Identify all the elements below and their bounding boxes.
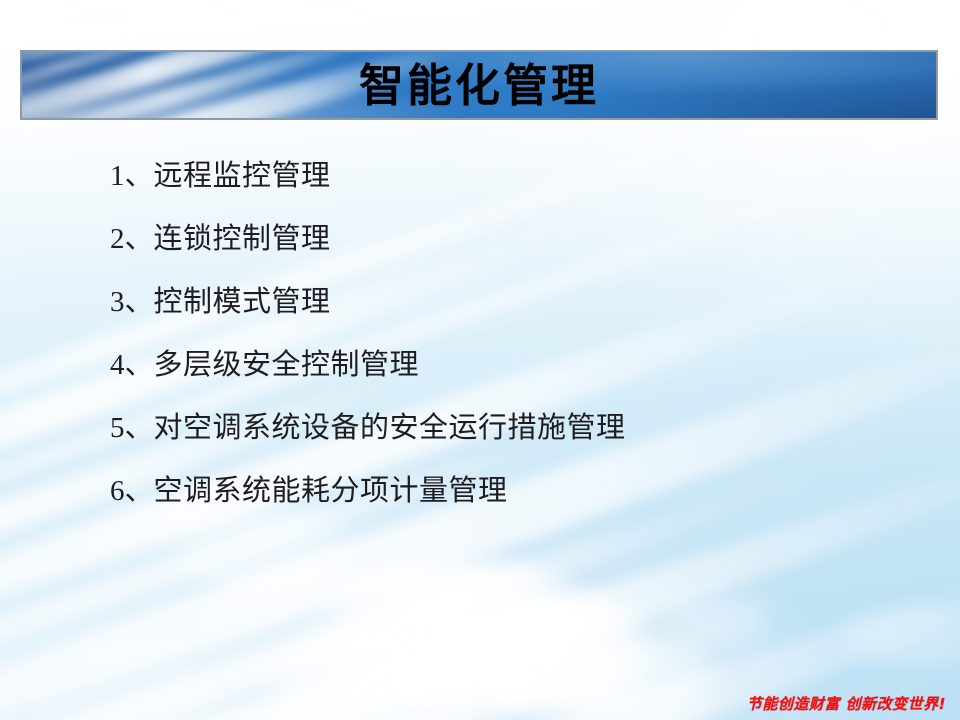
- list-item-label: 空调系统能耗分项计量管理: [154, 473, 508, 507]
- title-banner: 智能化管理: [20, 50, 938, 120]
- footer-slogan: 节能创造财富 创新改变世界!: [747, 693, 946, 714]
- list-item: 5、 对空调系统设备的安全运行措施管理: [110, 410, 626, 473]
- slide-canvas: 智能化管理 1、 远程监控管理 2、 连锁控制管理 3、 控制模式管理 4、 多…: [0, 0, 960, 720]
- list-item: 1、 远程监控管理: [110, 158, 626, 221]
- list-item-label: 对空调系统设备的安全运行措施管理: [154, 410, 626, 444]
- list-item-label: 多层级安全控制管理: [154, 347, 420, 381]
- list-item: 6、 空调系统能耗分项计量管理: [110, 473, 626, 536]
- cloud-puff: [640, 596, 800, 652]
- list-item: 4、 多层级安全控制管理: [110, 347, 626, 410]
- list-item-index: 6、: [110, 474, 154, 508]
- list-item: 2、 连锁控制管理: [110, 221, 626, 284]
- list-item: 3、 控制模式管理: [110, 284, 626, 347]
- list-item-index: 4、: [110, 348, 154, 382]
- list-item-index: 3、: [110, 285, 154, 319]
- list-item-index: 5、: [110, 411, 154, 445]
- list-item-index: 2、: [110, 222, 154, 256]
- cloud-puff: [540, 640, 750, 720]
- list-item-index: 1、: [110, 159, 154, 193]
- page-title: 智能化管理: [22, 52, 936, 118]
- list-item-label: 控制模式管理: [154, 284, 331, 318]
- list-item-label: 连锁控制管理: [154, 221, 331, 255]
- bullet-list: 1、 远程监控管理 2、 连锁控制管理 3、 控制模式管理 4、 多层级安全控制…: [110, 158, 626, 536]
- list-item-label: 远程监控管理: [154, 158, 331, 192]
